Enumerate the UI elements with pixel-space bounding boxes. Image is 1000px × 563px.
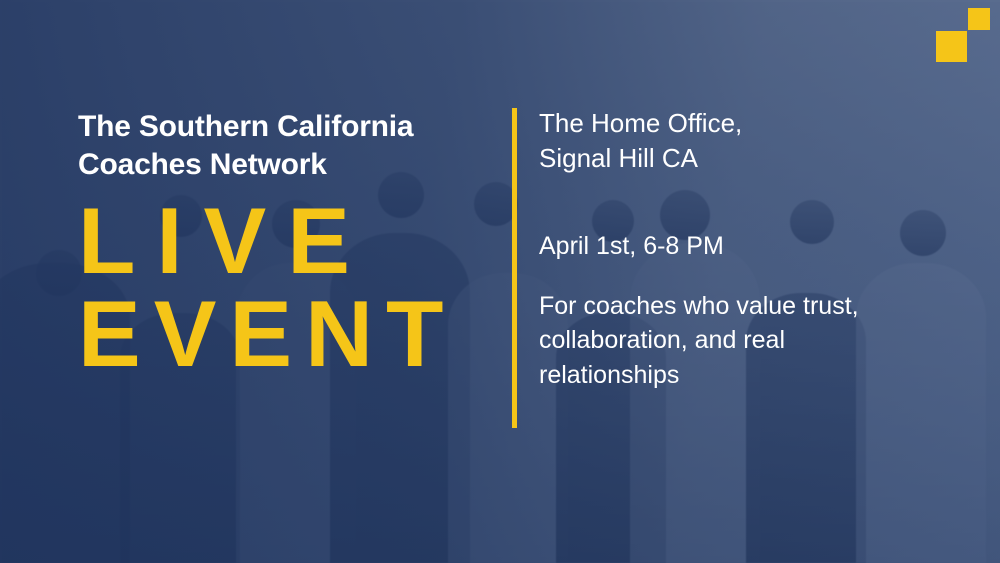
description-text: For coaches who value trust, collaborati… [539, 289, 939, 393]
event-poster: The Southern California Coaches Network … [0, 0, 1000, 563]
poster-content: The Southern California Coaches Network … [0, 0, 1000, 563]
headline-live: LIVE [78, 198, 498, 284]
datetime-text: April 1st, 6-8 PM [539, 232, 939, 261]
left-column: The Southern California Coaches Network … [78, 108, 498, 377]
right-column: The Home Office, Signal Hill CA April 1s… [539, 106, 939, 392]
network-title: The Southern California Coaches Network [78, 108, 498, 184]
venue-text: The Home Office, Signal Hill CA [539, 106, 939, 176]
vertical-divider [512, 108, 517, 428]
headline-event: EVENT [78, 291, 498, 377]
